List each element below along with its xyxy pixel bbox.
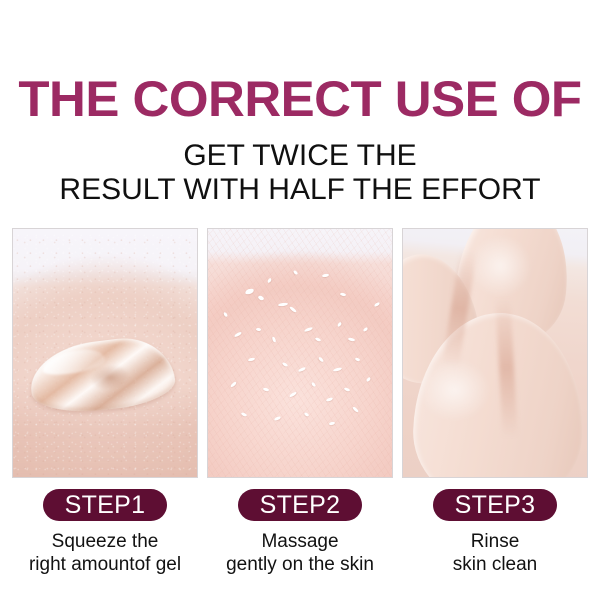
caption-line-1: Squeeze the bbox=[12, 530, 198, 553]
step-photo-2 bbox=[207, 228, 393, 478]
caption-line-2: right amountof gel bbox=[12, 553, 198, 576]
step-caption-1: Squeeze the right amountof gel bbox=[12, 530, 198, 576]
subtitle: GET TWICE THE RESULT WITH HALF THE EFFOR… bbox=[0, 139, 600, 207]
step-item-1: STEP1 Squeeze the right amountof gel bbox=[12, 489, 198, 576]
step-badge-3[interactable]: STEP3 bbox=[433, 489, 558, 521]
skin-highlight bbox=[469, 234, 532, 298]
step-caption-3: Rinse skin clean bbox=[402, 530, 588, 576]
caption-line-2: gently on the skin bbox=[207, 553, 393, 576]
subtitle-line-1: GET TWICE THE bbox=[0, 139, 600, 173]
skin-texture-lines bbox=[208, 229, 392, 477]
step-photo-1 bbox=[12, 228, 198, 478]
step-badge-2[interactable]: STEP2 bbox=[238, 489, 363, 521]
step-badge-1[interactable]: STEP1 bbox=[43, 489, 168, 521]
caption-line-1: Rinse bbox=[402, 530, 588, 553]
step-photo-3 bbox=[402, 228, 588, 478]
photo-panel-row bbox=[12, 228, 588, 478]
subtitle-line-2: RESULT WITH HALF THE EFFORT bbox=[0, 173, 600, 207]
caption-line-1: Massage bbox=[207, 530, 393, 553]
caption-line-2: skin clean bbox=[402, 553, 588, 576]
infographic-page: THE CORRECT USE OF GET TWICE THE RESULT … bbox=[0, 0, 600, 600]
step-item-2: STEP2 Massage gently on the skin bbox=[207, 489, 393, 576]
step-item-3: STEP3 Rinse skin clean bbox=[402, 489, 588, 576]
skin-highlight bbox=[418, 358, 492, 422]
page-title: THE CORRECT USE OF bbox=[0, 74, 600, 124]
step-row: STEP1 Squeeze the right amountof gel STE… bbox=[12, 489, 588, 576]
step-caption-2: Massage gently on the skin bbox=[207, 530, 393, 576]
